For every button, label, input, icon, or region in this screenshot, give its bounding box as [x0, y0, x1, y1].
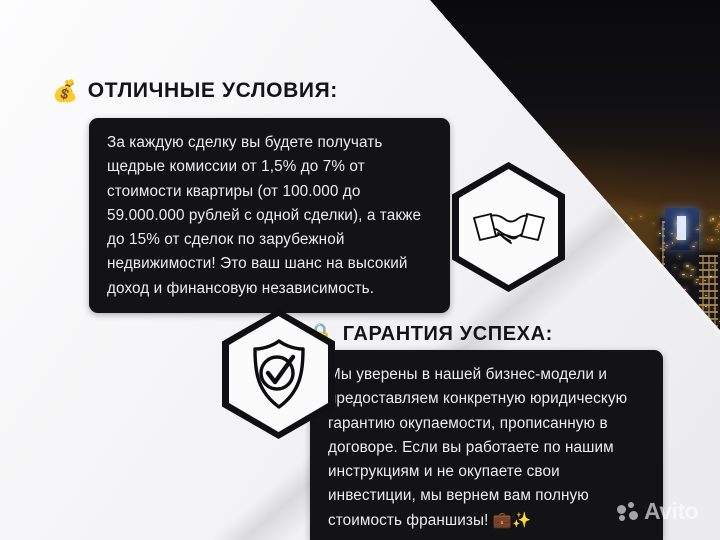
hexagon-frame: [452, 162, 565, 292]
hexagon-face: [229, 316, 328, 432]
hexagon-face: [459, 169, 558, 285]
slide-canvas: 💰 ОТЛИЧНЫЕ УСЛОВИЯ: За каждую сделку вы …: [0, 0, 720, 540]
hexagon-frame: [222, 309, 335, 439]
body-text: За каждую сделку вы будете получать щедр…: [107, 131, 434, 301]
shield-check-icon: [246, 337, 312, 411]
heading-text: ГАРАНТИЯ УСПЕХА:: [343, 323, 553, 346]
textbox-excellent-conditions: За каждую сделку вы будете получать щедр…: [89, 118, 450, 313]
heading-success-guarantee: 🔒 ГАРАНТИЯ УСПЕХА:: [307, 323, 553, 346]
body-text: Мы уверены в нашей бизнес-модели и предо…: [328, 363, 647, 533]
handshake-icon: [472, 203, 546, 251]
money-bag-emoji: 💰: [52, 81, 79, 102]
heading-excellent-conditions: 💰 ОТЛИЧНЫЕ УСЛОВИЯ:: [52, 79, 338, 103]
badge-shield-check: [222, 309, 335, 439]
badge-handshake: [452, 162, 565, 292]
heading-text: ОТЛИЧНЫЕ УСЛОВИЯ:: [88, 79, 338, 103]
textbox-success-guarantee: Мы уверены в нашей бизнес-модели и предо…: [310, 350, 663, 540]
